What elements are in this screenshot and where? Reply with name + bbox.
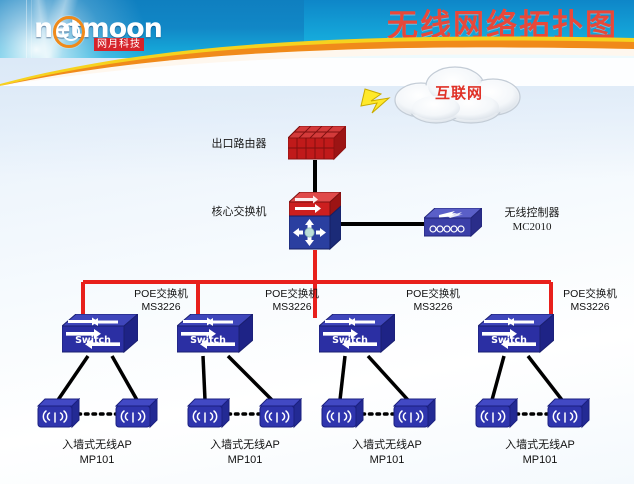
ap-group-model-1: MP101	[27, 453, 167, 467]
poe-switch-label-4: POE交换机	[545, 288, 634, 301]
poe-switch-model-1: MS3226	[116, 301, 206, 314]
ap-group-model-3: MP101	[317, 453, 457, 467]
link-sw2-ap1	[203, 356, 205, 400]
router-icon	[288, 126, 346, 162]
poe-switch-model-3: MS3226	[388, 301, 478, 314]
core-switch-label: 核心交换机	[196, 205, 282, 219]
internet-label: 互联网	[381, 82, 537, 103]
poe-switch-icon-4: Switch	[478, 314, 554, 358]
ap-group-label-4: 入墙式无线AP	[470, 438, 610, 452]
link-sw3-ap1	[340, 356, 345, 400]
topology-slide: netmoon 网月科技 无线网络拓扑图	[0, 0, 634, 484]
poe-switch-label-2: POE交换机	[247, 288, 337, 301]
svg-text:Switch: Switch	[75, 335, 111, 346]
poe-switch-model-2: MS3226	[247, 301, 337, 314]
poe-switch-label-1: POE交换机	[116, 288, 206, 301]
link-sw1-ap1	[58, 356, 88, 400]
wireless-ap-icon-2b	[258, 398, 302, 430]
poe-switch-label-3: POE交换机	[388, 288, 478, 301]
wireless-ap-icon-3a	[320, 398, 364, 430]
svg-text:Switch: Switch	[190, 335, 226, 346]
link-sw4-ap2	[528, 356, 562, 400]
link-sw4-ap1	[492, 356, 504, 400]
poe-switch-icon-1: Switch	[62, 314, 138, 358]
poe-switch-icon-3: Switch	[319, 314, 395, 358]
svg-text:Switch: Switch	[332, 335, 368, 346]
link-sw2-ap2	[228, 356, 272, 400]
link-sw3-ap2	[368, 356, 408, 400]
core-switch-icon	[289, 192, 341, 252]
poe-switch-model-4: MS3226	[545, 301, 634, 314]
wireless-ap-icon-4b	[546, 398, 590, 430]
wireless-ap-icon-1a	[36, 398, 80, 430]
wireless-ap-icon-2a	[186, 398, 230, 430]
wireless-ap-icon-4a	[474, 398, 518, 430]
ap-group-model-4: MP101	[470, 453, 610, 467]
ap-group-model-2: MP101	[175, 453, 315, 467]
controller-model: MC2010	[462, 220, 602, 234]
router-label: 出口路由器	[196, 137, 282, 151]
ap-group-label-1: 入墙式无线AP	[27, 438, 167, 452]
wireless-ap-icon-3b	[392, 398, 436, 430]
svg-text:Switch: Switch	[491, 335, 527, 346]
ap-group-label-2: 入墙式无线AP	[175, 438, 315, 452]
poe-switch-icon-2: Switch	[177, 314, 253, 358]
controller-label: 无线控制器	[462, 206, 602, 220]
wireless-ap-icon-1b	[114, 398, 158, 430]
link-sw1-ap2	[112, 356, 137, 400]
ap-group-label-3: 入墙式无线AP	[317, 438, 457, 452]
